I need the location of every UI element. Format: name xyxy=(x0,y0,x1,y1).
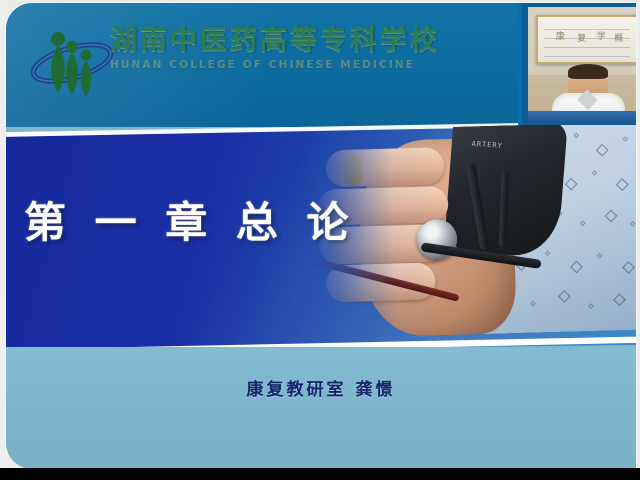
desk xyxy=(528,111,636,123)
lecturer-hair xyxy=(568,64,608,79)
presenter-label: 康复教研室 龚憬 xyxy=(6,375,636,400)
whiteboard: 康 复 学 概 xyxy=(536,15,636,64)
presentation-slide: 湖南中医药高等专科学校 HUNAN COLLEGE OF CHINESE MED… xyxy=(6,3,636,469)
board-char-2: 复 xyxy=(577,31,586,44)
slide-viewer: 湖南中医药高等专科学校 HUNAN COLLEGE OF CHINESE MED… xyxy=(0,0,640,480)
slide-footer-panel xyxy=(6,347,636,469)
board-char-4: 概 xyxy=(614,31,623,44)
institution-name-en: HUNAN COLLEGE OF CHINESE MEDICINE xyxy=(110,59,410,71)
school-logo-icon xyxy=(28,17,116,99)
institution-name-block: 湖南中医药高等专科学校 HUNAN COLLEGE OF CHINESE MED… xyxy=(110,25,410,71)
video-frame: 康 复 学 概 xyxy=(528,7,636,123)
institution-name-cn: 湖南中医药高等专科学校 xyxy=(110,25,410,56)
player-bottom-bar xyxy=(0,468,640,480)
lecturer-video-inset[interactable]: 康 复 学 概 xyxy=(518,3,636,125)
board-char-3: 学 xyxy=(597,29,606,42)
board-char-1: 康 xyxy=(556,29,565,42)
chapter-title: 第 一 章 总 论 xyxy=(24,189,356,250)
